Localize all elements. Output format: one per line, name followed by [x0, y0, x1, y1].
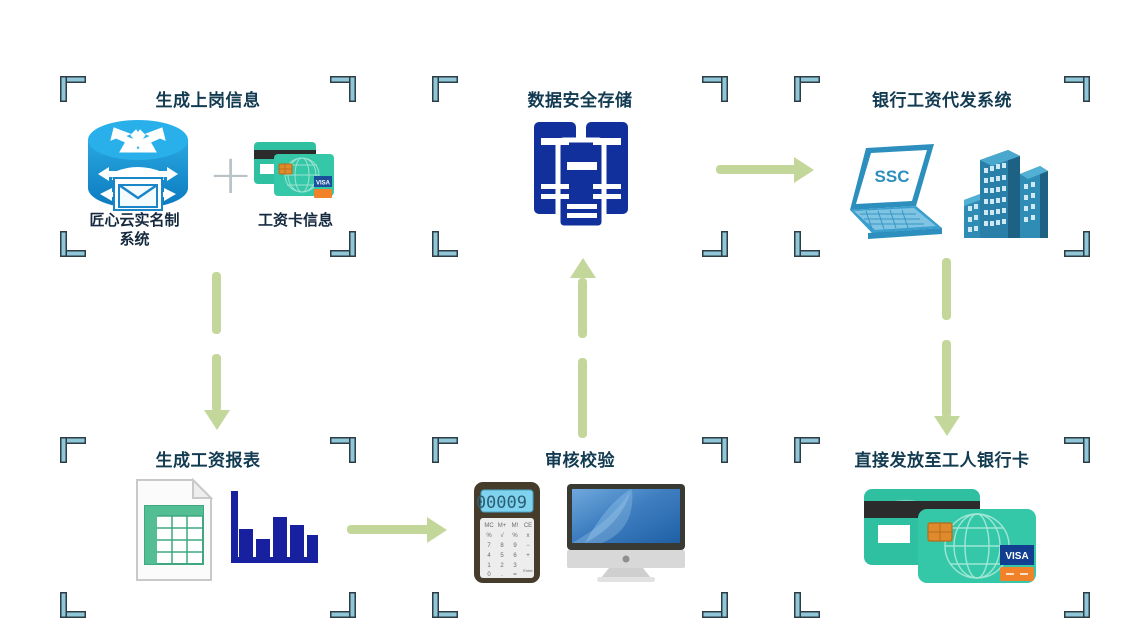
svg-text:MC: MC [484, 523, 494, 529]
arrow-storage-to-bank [716, 157, 816, 183]
panel-title-bank-payroll-system: 银行工资代发系统 [794, 86, 1090, 111]
arrow-bank-to-payment [934, 258, 960, 440]
svg-text:%: % [512, 533, 518, 539]
bracket-bottom-right [1064, 231, 1090, 257]
audit-monitor-icon [565, 482, 687, 582]
bank-building-icon [962, 142, 1052, 242]
panel-title-audit-verification: 审核校验 [432, 446, 728, 471]
calculator-display: 00009 [476, 493, 527, 513]
realname-system-router-icon [80, 112, 196, 218]
arrow-report-to-audit [347, 517, 451, 543]
label-realname-system: 匠心云实名制 系统 [72, 212, 197, 250]
audit-calculator-icon: 00009 MCM+M!CE %√%x 789− 456+ 123 0.= En… [472, 480, 542, 585]
panel-title-generate-payroll-report: 生成工资报表 [60, 446, 356, 471]
bracket-bottom-left [432, 231, 458, 257]
panel-title-generate-onboarding-info: 生成上岗信息 [60, 86, 356, 111]
secure-data-storage-server-icon [524, 118, 638, 230]
label-payroll-card-info: 工资卡信息 [228, 212, 363, 231]
payroll-spreadsheet-icon [135, 478, 213, 582]
card-brand-label: VISA [316, 181, 331, 187]
svg-text:%: % [486, 533, 492, 539]
svg-text:+: + [526, 553, 530, 559]
bank-payroll-laptop-icon: SSC [838, 140, 950, 240]
payroll-card-info-icon: VISA [250, 136, 340, 208]
flow-diagram: 生成上岗信息 数据安全存储 银行工资代发系统 生成工资报表 审核校验 直接发放至… [0, 0, 1143, 641]
bracket-bottom-left [794, 231, 820, 257]
bracket-bottom-right [330, 592, 356, 618]
bracket-bottom-left [794, 592, 820, 618]
bracket-bottom-right [702, 231, 728, 257]
bracket-bottom-right [330, 231, 356, 257]
svg-text:M+: M+ [498, 523, 507, 529]
svg-text:M!: M! [512, 523, 519, 529]
payroll-bar-chart-icon [229, 487, 319, 565]
worker-bank-card-icon: VISA [860, 487, 1040, 585]
svg-text:CE: CE [524, 523, 532, 529]
svg-text:x: x [527, 533, 530, 539]
svg-text:=: = [513, 572, 517, 578]
arrow-onboarding-to-report [204, 272, 230, 432]
bracket-bottom-right [702, 592, 728, 618]
bracket-bottom-right [1064, 592, 1090, 618]
arrow-audit-to-storage [570, 258, 596, 440]
panel-title-direct-payment-to-worker-card: 直接发放至工人银行卡 [794, 446, 1090, 471]
card-brand-visa-label: VISA [1005, 551, 1028, 562]
laptop-screen-label: SSC [875, 167, 910, 186]
plus-connector-icon: + [208, 148, 253, 202]
bracket-bottom-left [60, 592, 86, 618]
svg-text:−: − [526, 543, 530, 549]
svg-text:Enter: Enter [523, 568, 533, 573]
bracket-bottom-left [432, 592, 458, 618]
panel-title-secure-data-storage: 数据安全存储 [432, 86, 728, 111]
